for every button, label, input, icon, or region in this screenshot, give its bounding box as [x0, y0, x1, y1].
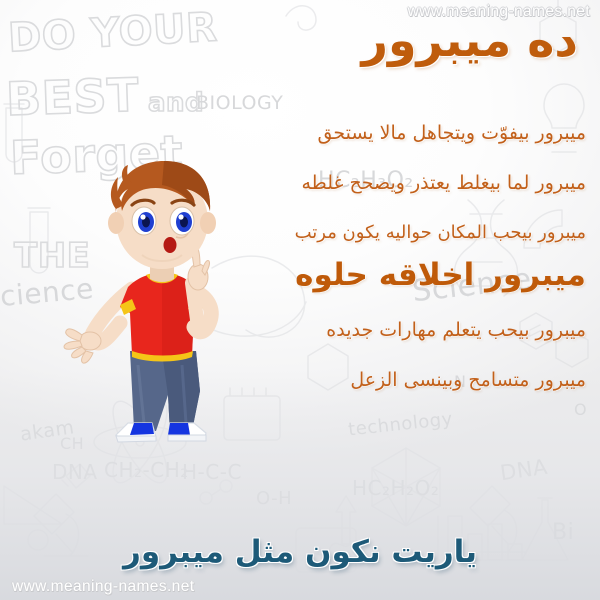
- doodle-text: DNA: [52, 460, 98, 484]
- doodle-text: BIOLOGY: [196, 92, 283, 114]
- doodle-text: BEST: [5, 68, 140, 127]
- meaning-line: ميبرور بيفوّت ويتجاهل مالا يستحق: [186, 122, 586, 144]
- watermark-bottom: www.meaning-names.net: [12, 578, 194, 596]
- doodle-text: HC₂H₂O₂: [352, 476, 439, 500]
- bottom-phrase: ياريت نكون مثل ميبرور: [0, 534, 600, 570]
- poster-canvas: DO YOURBESTandForgetTHEcienceScienceBIOL…: [0, 0, 600, 600]
- doodle-text: DNA: [499, 455, 550, 485]
- thinking-boy-illustration: [58, 155, 268, 455]
- doodle-text: O-H: [256, 488, 292, 509]
- page-title: ده ميبرور: [361, 16, 578, 64]
- doodle-text: H-C-C: [182, 460, 242, 484]
- doodle-text: and: [148, 88, 204, 118]
- doodle-text: CH₂-CH₂: [104, 458, 189, 482]
- doodle-text: DO YOUR: [7, 5, 219, 62]
